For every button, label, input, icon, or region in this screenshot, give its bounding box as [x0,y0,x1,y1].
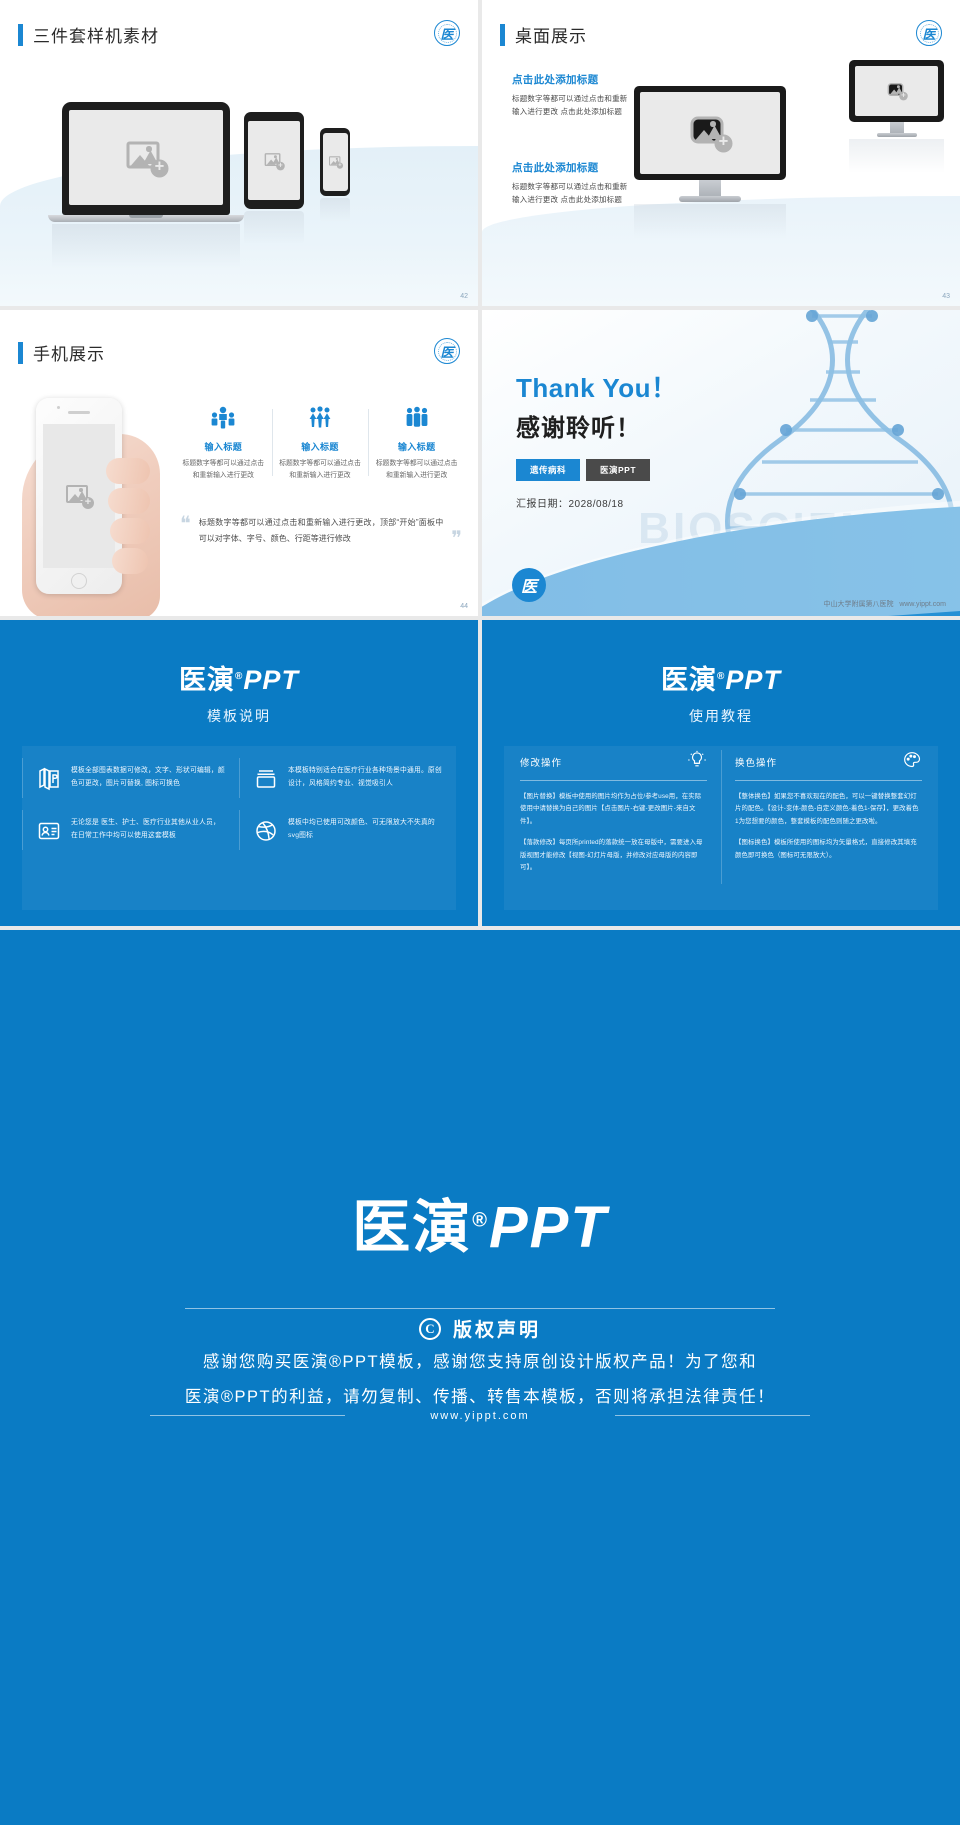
monitor-reflection [634,204,786,238]
info-cell-text: 无论您是 医生、护士、医疗行业其他从业人员，在日常工作中均可以使用这套模板 [71,816,227,844]
slide-thank-you[interactable]: BIOSCIENCE Thank You！ 感谢聆听！ 遗传病科 医演PPT 汇… [482,310,960,616]
footer-organization: 中山大学附属第八医院 [823,601,893,608]
page-number: 44 [460,603,468,610]
quote-text: 标题数字等都可以通过点击和重新输入进行更改，顶部“开始”面板中可以对字体、字号、… [199,515,443,548]
slide-mockup-header: 三件套样机素材 [18,22,159,47]
thank-you-block: Thank You！ 感谢聆听！ 遗传病科 医演PPT 汇报日期：2028/08… [516,368,678,510]
text-block-body: 标题数字等都可以通过点击和重新输入进行更改 点击此处添加标题 [512,93,634,119]
tag-row: 遗传病科 医演PPT [516,459,678,481]
slide-row-3: 医演®PPT 模板说明 模板全部图表数据可修改，文字、形状可编辑，颜色可更改，图… [0,620,960,926]
brand-logo-icon: 医 [512,568,546,602]
brand-ppt: PPT [243,665,299,695]
info-cell-text: 模板中均已使用可改颜色、可无限放大不失真的svg图标 [288,816,444,844]
presentation-thumbnail-sheet: 三件套样机素材 医 + [0,0,960,1825]
phone-home-button [71,573,87,589]
hand-holding-phone-photo: + [10,362,160,612]
secondary-monitor-mockup: + [849,60,944,173]
tutorial-heading: 修改操作 [520,755,562,769]
laptop-lid: + [62,102,230,215]
tutorial-heading: 换色操作 [735,755,777,769]
text-block-1[interactable]: 点击此处添加标题 标题数字等都可以通过点击和重新输入进行更改 点击此处添加标题 [512,72,634,119]
quote-open-icon: ❝ [180,515,191,548]
monitor-frame: + [849,60,944,122]
tutorial-grid: 修改操作 【图片替换】模板中使用的图片均作为占位/参考use用，在实际使用中请替… [506,750,936,884]
info-cell-4[interactable]: 模板中均已使用可改颜色、可无限放大不失真的svg图标 [239,804,456,856]
brand-ppt: PPT [725,665,781,695]
panel-subtitle: 模板说明 [0,706,478,726]
brand-logo-icon: 医 [434,20,460,46]
brand-logo-icon: 医 [916,20,942,46]
brand-cn: 医演 [661,665,717,695]
slide-mobile[interactable]: 手机展示 医 + [0,310,478,616]
slide-row-1: 三件套样机素材 医 + [0,0,960,306]
phone-mockup: + [320,128,350,222]
tutorial-item: 【图片替换】模板中使用的图片均作为占位/参考use用，在实际使用中请替换为自己的… [520,791,707,828]
text-block-2[interactable]: 点击此处添加标题 标题数字等都可以通过点击和重新输入进行更改 点击此处添加标题 [512,160,634,207]
feature-item-3[interactable]: 输入标题 标题数字等都可以通过点击和重新输入进行更改 [368,403,465,482]
laptop-mockup: + [62,102,230,268]
brand-cn: 医演 [352,1195,472,1260]
tag-department[interactable]: 遗传病科 [516,459,580,481]
tutorial-item: 【图标换色】模板所使用的图标均为矢量格式，直接修改其填充颜色即可换色（图标可无限… [735,837,922,862]
feature-columns: 输入标题 标题数字等都可以通过点击和重新输入进行更改 输入标题 标题数字等都可以… [175,403,465,482]
panel-tutorial[interactable]: 医演®PPT 使用教程 修改操作 [482,620,960,926]
monitor-reflection [849,139,944,173]
brand-wordmark: 医演®PPT [482,620,960,697]
feature-body: 标题数字等都可以通过点击和重新输入进行更改 [374,458,459,482]
website-link[interactable]: www.yippt.com [0,1410,960,1422]
divider-top [185,1308,775,1309]
phone-screen-placeholder[interactable]: + [323,133,348,191]
panel-subtitle: 使用教程 [482,706,960,726]
tablet-body: + [244,112,304,209]
team-award-icon [181,403,266,433]
brand-wordmark-large: 医演®PPT [0,1180,960,1264]
title-accent-bar [500,24,505,46]
title-accent-bar [18,342,23,364]
monitor-frame: + [634,86,786,180]
people-group-icon [278,403,363,433]
slide-footer: 中山大学附属第八医院 www.yippt.com [823,599,946,609]
phone-speaker [68,411,90,414]
lightbulb-icon [687,750,707,773]
palette-icon [902,750,922,773]
laptop-base [48,215,244,222]
copyright-declaration-title: 版权声明 [453,1315,541,1342]
image-placeholder-icon: + [265,153,284,169]
monitor-foot [679,196,741,202]
text-block-heading: 点击此处添加标题 [512,160,634,175]
tablet-reflection [244,211,304,245]
book-p-icon [36,766,62,792]
panel-template-info[interactable]: 医演®PPT 模板说明 模板全部图表数据可修改，文字、形状可编辑，颜色可更改，图… [0,620,478,926]
info-cell-text: 本模板特别适合在医疗行业各种场景中通用。原创设计，风格简约专业、视觉吸引人 [288,764,444,792]
slide-mockup[interactable]: 三件套样机素材 医 + [0,0,478,306]
brand-cn: 医演 [179,665,235,695]
tutorial-column-header: 修改操作 [520,750,707,781]
page-number: 42 [460,293,468,300]
brand-reg: ® [472,1210,489,1232]
laptop-reflection [52,224,240,268]
thank-you-title-cn: 感谢聆听！ [516,408,678,443]
phone-body: + [320,128,350,196]
monitor-neck [890,122,904,133]
slide-row-2: 手机展示 医 + [0,310,960,616]
image-placeholder-icon: + [127,141,166,174]
info-cell-2[interactable]: 本模板特别适合在医疗行业各种场景中通用。原创设计，风格简约专业、视觉吸引人 [239,752,456,804]
title-accent-bar [18,24,23,46]
primary-monitor-mockup: + [634,86,786,238]
tutorial-column-header: 换色操作 [735,750,922,781]
monitor-screen-placeholder[interactable]: + [855,66,938,116]
image-placeholder-icon: + [329,156,342,167]
feature-heading: 输入标题 [278,440,363,453]
page-number: 43 [942,293,950,300]
dribbble-icon [253,818,279,844]
text-block-body: 标题数字等都可以通过点击和重新输入进行更改 点击此处添加标题 [512,181,634,207]
tablet-mockup: + [244,112,304,245]
quote-close-icon: ❞ [451,530,462,548]
feature-item-1[interactable]: 输入标题 标题数字等都可以通过点击和重新输入进行更改 [175,403,272,482]
monitor-neck [699,180,721,196]
monitor-screen-placeholder[interactable]: + [640,92,780,174]
tutorial-item: 【整体换色】如果您不喜欢现在的配色，可以一键替换整套幻灯片的配色。【设计-变体-… [735,791,922,828]
page-title: 三件套样机素材 [33,22,159,47]
info-cell-1[interactable]: 模板全部图表数据可修改，文字、形状可编辑，颜色可更改，图片可替换, 图标可换色 [22,752,239,804]
people-three-icon [374,403,459,433]
slide-desktop[interactable]: 桌面展示 医 点击此处添加标题 标题数字等都可以通过点击和重新输入进行更改 点击… [482,0,960,306]
laptop-screen-placeholder[interactable]: + [69,110,223,205]
panel-copyright[interactable]: 医演®PPT C 版权声明 感谢您购买医演®PPT模板，感谢您支持原创设计版权产… [0,930,960,1825]
phone-screen-placeholder[interactable]: + [43,424,115,568]
image-placeholder-icon: + [66,485,92,507]
text-block-heading: 点击此处添加标题 [512,72,634,87]
phone-reflection [320,198,350,222]
footer-website: www.yippt.com [899,601,946,608]
quote-block[interactable]: ❝ 标题数字等都可以通过点击和重新输入进行更改，顶部“开始”面板中可以对字体、字… [180,515,462,548]
copyright-declaration-header: C 版权声明 [0,1315,960,1342]
info-cell-3[interactable]: 无论您是 医生、护士、医疗行业其他从业人员，在日常工作中均可以使用这套模板 [22,804,239,856]
phone-camera-icon [57,406,60,409]
feature-body: 标题数字等都可以通过点击和重新输入进行更改 [278,458,363,482]
info-cell-text: 模板全部图表数据可修改，文字、形状可编辑，颜色可更改，图片可替换, 图标可换色 [71,764,227,792]
report-date: 汇报日期：2028/08/18 [516,495,678,510]
brand-wordmark: 医演®PPT [0,620,478,697]
feature-heading: 输入标题 [374,440,459,453]
brand-ppt: PPT [489,1195,608,1260]
feature-grid: 模板全部图表数据可修改，文字、形状可编辑，颜色可更改，图片可替换, 图标可换色 … [22,752,456,856]
tutorial-column-edit[interactable]: 修改操作 【图片替换】模板中使用的图片均作为占位/参考use用，在实际使用中请替… [506,750,721,884]
feature-item-2[interactable]: 输入标题 标题数字等都可以通过点击和重新输入进行更改 [272,403,369,482]
id-card-icon [36,818,62,844]
image-placeholder-icon: + [691,117,730,150]
monitor-foot [877,133,917,137]
tablet-screen-placeholder[interactable]: + [248,121,300,200]
brand-logo-icon: 医 [434,338,460,364]
copyright-icon: C [419,1318,441,1340]
tag-brand[interactable]: 医演PPT [586,459,650,481]
thank-you-title-en: Thank You！ [516,368,678,405]
copyright-body: 感谢您购买医演®PPT模板，感谢您支持原创设计版权产品！为了您和 医演®PPT的… [130,1345,830,1414]
page-title: 桌面展示 [515,22,587,47]
feature-body: 标题数字等都可以通过点击和重新输入进行更改 [181,458,266,482]
feature-heading: 输入标题 [181,440,266,453]
tutorial-column-recolor[interactable]: 换色操作 【整体换色】如果您不喜欢现在的配色，可以一键替换整套幻灯片的配色。【设… [721,750,936,884]
slides-icon [253,766,279,792]
tutorial-item: 【落款修改】每页所printed的落款统一放在母版中，需要进入母版视图才能修改【… [520,837,707,874]
fingers [106,458,160,608]
slide-desktop-header: 桌面展示 [500,22,587,47]
image-placeholder-icon: + [887,83,906,99]
copyright-body-line-1: 感谢您购买医演®PPT模板，感谢您支持原创设计版权产品！为了您和 [130,1345,830,1380]
